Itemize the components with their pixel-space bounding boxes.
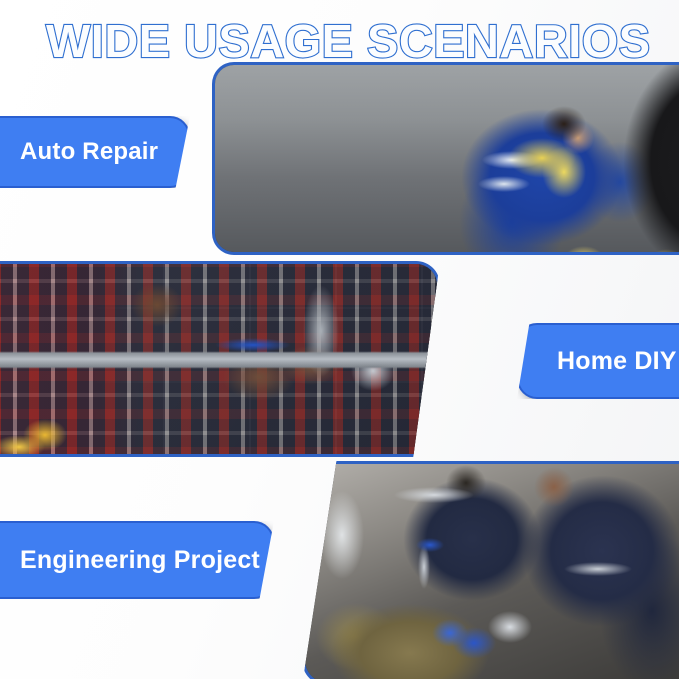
auto-repair-photo-image <box>212 62 679 255</box>
scenario-photo-home-diy <box>0 261 440 457</box>
scenario-label-auto-repair[interactable]: Auto Repair <box>0 116 190 188</box>
wide-usage-scenarios-infographic: WIDE USAGE SCENARIOS Auto Repair Home DI… <box>0 0 679 679</box>
scenario-label-auto-repair-text: Auto Repair <box>20 138 158 166</box>
scenario-photo-auto-repair <box>212 62 679 255</box>
scenario-label-home-diy-text: Home DIY <box>557 347 677 376</box>
engineering-project-photo-image <box>302 461 679 679</box>
home-diy-photo-image <box>0 261 440 457</box>
scenario-label-engineering-project-text: Engineering Project <box>20 546 260 575</box>
page-title: WIDE USAGE SCENARIOS <box>46 14 658 68</box>
scenario-label-home-diy[interactable]: Home DIY <box>517 323 679 399</box>
scenario-label-engineering-project[interactable]: Engineering Project <box>0 521 274 599</box>
scenario-photo-engineering-project <box>302 461 679 679</box>
